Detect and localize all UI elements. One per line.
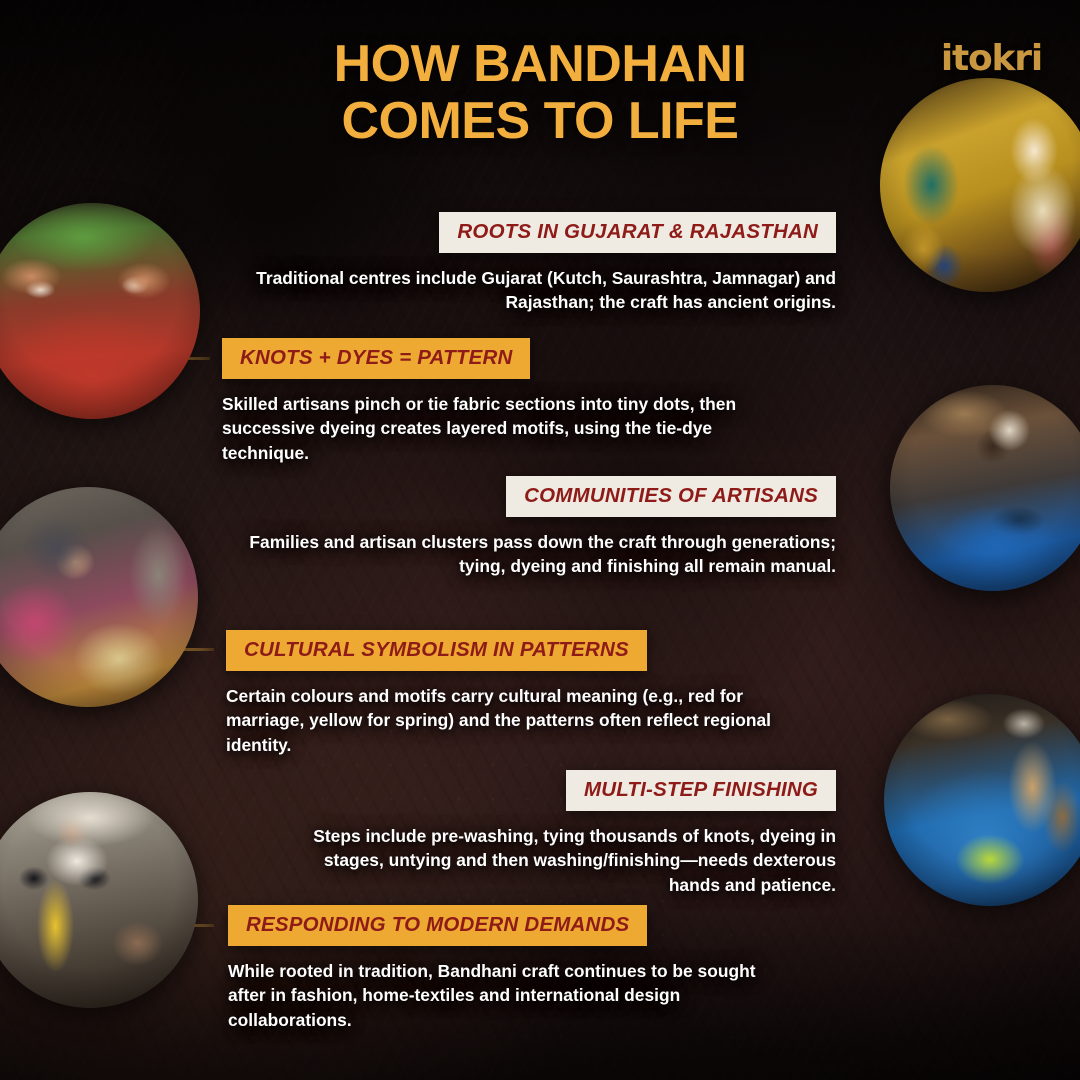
photo-disc-2 — [0, 203, 200, 419]
photo-shade-3 — [890, 385, 1080, 591]
section-heading-6[interactable]: RESPONDING TO MODERN DEMANDS — [228, 905, 647, 946]
photo-circle-5 — [884, 694, 1080, 906]
section-heading-2[interactable]: KNOTS + DYES = PATTERN — [222, 338, 530, 379]
section-body-3: Families and artisan clusters pass down … — [242, 530, 836, 579]
photo-circle-2 — [0, 203, 200, 419]
photo-shade-2 — [0, 203, 200, 419]
photo-circle-1 — [880, 78, 1080, 292]
section-body-1: Traditional centres include Gujarat (Kut… — [246, 266, 836, 315]
section-roots-in-gujarat-rajasthan: ROOTS IN GUJARAT & RAJASTHAN Traditional… — [246, 212, 836, 315]
brand-logo: itokri — [941, 38, 1042, 79]
photo-shade-5 — [884, 694, 1080, 906]
photo-disc-3 — [890, 385, 1080, 591]
photo-shade-1 — [880, 78, 1080, 292]
section-knots-dyes-pattern: KNOTS + DYES = PATTERN Skilled artisans … — [222, 338, 762, 465]
section-cultural-symbolism-in-patterns: CULTURAL SYMBOLISM IN PATTERNS Certain c… — [226, 630, 786, 757]
section-multi-step-finishing: MULTI-STEP FINISHING Steps include pre-w… — [300, 770, 836, 897]
section-communities-of-artisans: COMMUNITIES OF ARTISANS Families and art… — [242, 476, 836, 579]
photo-circle-4 — [0, 487, 198, 707]
infographic-poster: HOW BANDHANI COMES TO LIFE itokri — [0, 0, 1080, 1080]
section-body-4: Certain colours and motifs carry cultura… — [226, 684, 786, 757]
photo-disc-1 — [880, 78, 1080, 292]
photo-shade-4 — [0, 487, 198, 707]
section-body-2: Skilled artisans pinch or tie fabric sec… — [222, 392, 762, 465]
section-heading-5[interactable]: MULTI-STEP FINISHING — [566, 770, 836, 811]
photo-shade-6 — [0, 792, 198, 1008]
section-body-6: While rooted in tradition, Bandhani craf… — [228, 959, 796, 1032]
photo-disc-4 — [0, 487, 198, 707]
photo-disc-5 — [884, 694, 1080, 906]
section-body-5: Steps include pre-washing, tying thousan… — [300, 824, 836, 897]
photo-circle-6 — [0, 792, 198, 1008]
section-heading-1[interactable]: ROOTS IN GUJARAT & RAJASTHAN — [439, 212, 836, 253]
section-heading-3[interactable]: COMMUNITIES OF ARTISANS — [506, 476, 836, 517]
section-heading-4[interactable]: CULTURAL SYMBOLISM IN PATTERNS — [226, 630, 647, 671]
section-responding-to-modern-demands: RESPONDING TO MODERN DEMANDS While roote… — [228, 905, 796, 1032]
photo-disc-6 — [0, 792, 198, 1008]
photo-circle-3 — [890, 385, 1080, 591]
